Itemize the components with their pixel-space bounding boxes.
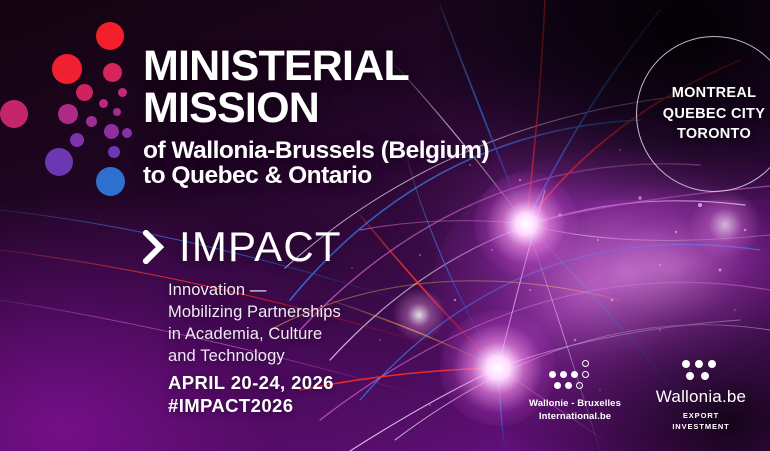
impact-lockup: IMPACT	[143, 226, 342, 268]
impact-tagline: Innovation — Mobilizing Partnerships in …	[168, 280, 341, 368]
wallonia-suffix: .be	[722, 387, 746, 406]
page-title: MINISTERIAL MISSION of Wallonia-Brussels…	[143, 46, 489, 188]
wallonia-name: Wallonia	[656, 387, 722, 406]
title-line-1: MINISTERIAL	[143, 46, 489, 87]
city-montreal: MONTREAL	[672, 83, 757, 104]
city-badge: MONTREAL QUEBEC CITY TORONTO	[636, 36, 770, 192]
tagline-line-1: Innovation —	[168, 280, 341, 302]
wallonia-sub-export: EXPORT	[648, 411, 754, 422]
tagline-line-2: Mobilizing Partnerships	[168, 302, 341, 324]
title-line-2: MISSION	[143, 88, 489, 129]
wbi-dot-grid-icon	[549, 360, 601, 390]
impact-wordmark: IMPACT	[179, 226, 342, 268]
wallonie-bruxelles-logo: Wallonie - Bruxelles International.be	[520, 360, 630, 424]
wbi-label-line-1: Wallonie - Bruxelles	[520, 397, 630, 410]
wallonia-be-logo: Wallonia.be EXPORT INVESTMENT	[648, 360, 754, 433]
wbi-label-line-2: International.be	[520, 410, 630, 423]
promotional-banner: MINISTERIAL MISSION of Wallonia-Brussels…	[0, 0, 770, 451]
tagline-line-4: and Technology	[168, 346, 341, 368]
wallonia-sub-investment: INVESTMENT	[648, 422, 754, 433]
wallonia-dot-grid-icon	[682, 360, 720, 382]
title-line-4: to Quebec & Ontario	[143, 164, 489, 188]
title-line-3: of Wallonia-Brussels (Belgium)	[143, 139, 489, 163]
tagline-line-3: in Academia, Culture	[168, 324, 341, 346]
city-quebec-city: QUEBEC CITY	[663, 104, 765, 125]
city-toronto: TORONTO	[677, 124, 751, 145]
chevron-right-icon	[143, 230, 165, 264]
event-hashtag: #IMPACT2026	[168, 394, 334, 417]
event-dates: APRIL 20-24, 2026 #IMPACT2026	[168, 371, 334, 418]
date-range: APRIL 20-24, 2026	[168, 371, 334, 394]
